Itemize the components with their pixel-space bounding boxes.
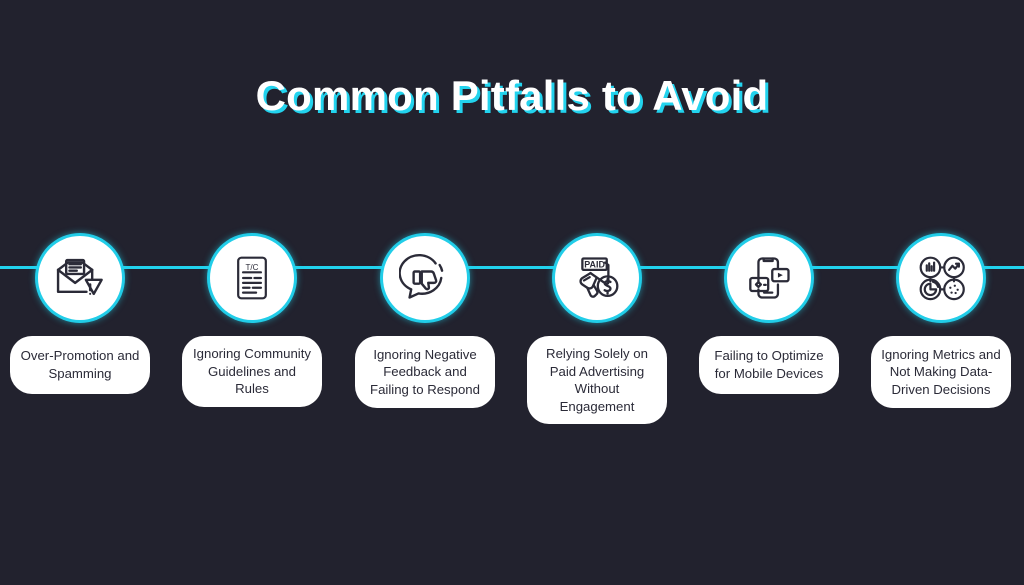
list-item[interactable]: Failing to Optimize for Mobile Devices xyxy=(687,236,851,394)
envelope-warning-icon xyxy=(54,252,106,304)
list-item-label: Relying Solely on Paid Advertising Witho… xyxy=(527,336,667,424)
list-item-label: Over-Promotion and Spamming xyxy=(10,336,150,394)
icon-badge: PAID xyxy=(555,236,639,320)
list-item[interactable]: PAID Relying Solely on Paid Advertising … xyxy=(515,236,679,424)
icon-badge: T/C xyxy=(210,236,294,320)
speech-bubble-thumbs-down-icon xyxy=(399,252,451,304)
pitfalls-list: Over-Promotion and Spamming T/C xyxy=(0,0,1024,585)
list-item-label: Ignoring Metrics and Not Making Data-Dri… xyxy=(871,336,1011,408)
mobile-video-optimize-icon xyxy=(743,252,795,304)
svg-text:T/C: T/C xyxy=(245,263,258,272)
svg-text:PAID: PAID xyxy=(584,259,605,269)
icon-badge xyxy=(727,236,811,320)
list-item-label: Ignoring Negative Feedback and Failing t… xyxy=(355,336,495,408)
analytics-charts-network-icon xyxy=(915,252,967,304)
icon-badge xyxy=(383,236,467,320)
slide-canvas: Common Pitfalls to Avoid xyxy=(0,0,1024,585)
list-item-label: Failing to Optimize for Mobile Devices xyxy=(699,336,839,394)
list-item-label: Ignoring Community Guidelines and Rules xyxy=(182,336,322,407)
list-item[interactable]: Over-Promotion and Spamming xyxy=(0,236,162,394)
icon-badge xyxy=(899,236,983,320)
megaphone-paid-dollar-icon: PAID xyxy=(571,252,623,304)
list-item[interactable]: Ignoring Negative Feedback and Failing t… xyxy=(343,236,507,408)
terms-conditions-document-icon: T/C xyxy=(226,252,278,304)
icon-badge xyxy=(38,236,122,320)
list-item[interactable]: T/C Ignoring Community Guidelines and Ru… xyxy=(170,236,334,407)
list-item[interactable]: Ignoring Metrics and Not Making Data-Dri… xyxy=(859,236,1023,408)
